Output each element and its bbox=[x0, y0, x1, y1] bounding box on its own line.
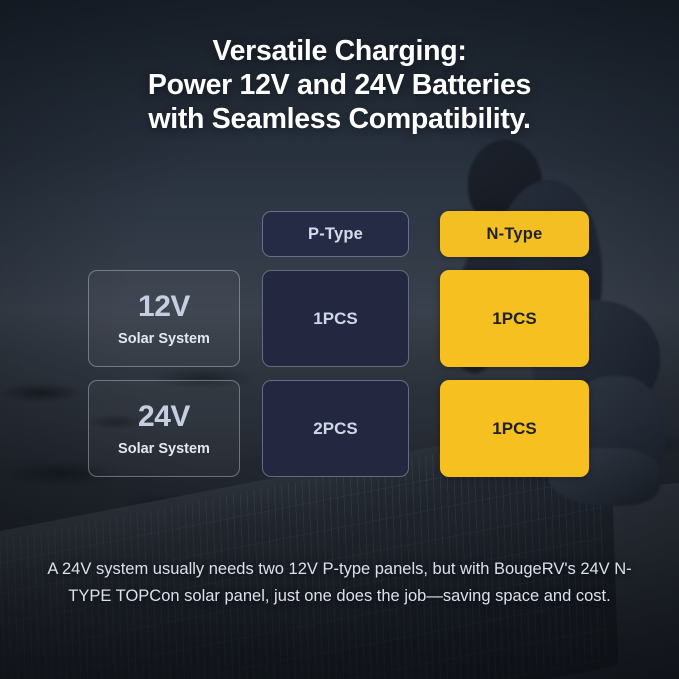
cell-24v-ntype[interactable]: 1PCS bbox=[440, 380, 589, 477]
row-system-label-12v: Solar System bbox=[118, 331, 210, 347]
header-corner-spacer bbox=[88, 211, 240, 257]
cell-12v-ptype[interactable]: 1PCS bbox=[262, 270, 409, 367]
cell-12v-ntype[interactable]: 1PCS bbox=[440, 270, 589, 367]
column-header-n-type[interactable]: N-Type bbox=[440, 211, 589, 257]
caption-line-3: job—saving space and cost. bbox=[404, 587, 610, 605]
table-row: 24V Solar System 2PCS 1PCS bbox=[88, 380, 589, 477]
row-voltage-24v: 24V bbox=[138, 402, 190, 432]
cell-24v-ptype[interactable]: 2PCS bbox=[262, 380, 409, 477]
table-row: 12V Solar System 1PCS 1PCS bbox=[88, 270, 589, 367]
content-overlay: Versatile Charging: Power 12V and 24V Ba… bbox=[0, 0, 679, 679]
row-label-12v: 12V Solar System bbox=[88, 270, 240, 367]
headline-line-1: Versatile Charging: bbox=[0, 34, 679, 68]
column-header-p-type[interactable]: P-Type bbox=[262, 211, 409, 257]
caption-line-1: A 24V system usually needs two 12V P-typ… bbox=[47, 560, 489, 578]
row-label-24v: 24V Solar System bbox=[88, 380, 240, 477]
headline-line-3: with Seamless Compatibility. bbox=[0, 102, 679, 136]
headline-line-2: Power 12V and 24V Batteries bbox=[0, 68, 679, 102]
promo-graphic: Versatile Charging: Power 12V and 24V Ba… bbox=[0, 0, 679, 679]
table-header-row: P-Type N-Type bbox=[88, 211, 589, 257]
caption: A 24V system usually needs two 12V P-typ… bbox=[44, 556, 635, 610]
row-system-label-24v: Solar System bbox=[118, 441, 210, 457]
row-voltage-12v: 12V bbox=[138, 292, 190, 322]
comparison-table: P-Type N-Type 12V Solar System 1PCS 1PCS… bbox=[88, 211, 589, 477]
headline: Versatile Charging: Power 12V and 24V Ba… bbox=[0, 34, 679, 136]
